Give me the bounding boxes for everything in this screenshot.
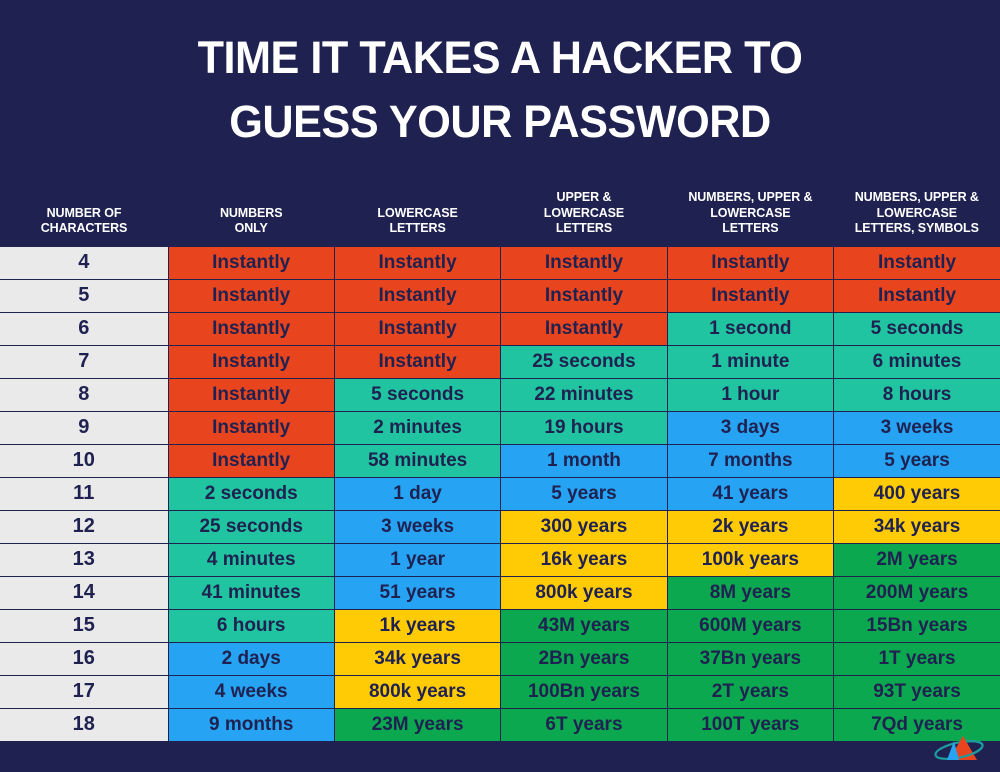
crack-time-cell: 8 hours [834, 378, 1000, 411]
crack-time-cell: 2 days [168, 642, 334, 675]
crack-time-cell: 100k years [667, 543, 833, 576]
column-header-line: LETTERS [505, 221, 663, 237]
crack-time-cell: Instantly [168, 444, 334, 477]
crack-time-cell: 4 weeks [168, 675, 334, 708]
crack-time-cell: 5 years [501, 477, 667, 510]
title-line-1: TIME IT TAKES A HACKER TO [20, 26, 980, 90]
crack-time-cell: 1 year [334, 543, 500, 576]
crack-time-cell: 5 seconds [834, 312, 1000, 345]
crack-time-cell: 2M years [834, 543, 1000, 576]
crack-time-cell: 43M years [501, 609, 667, 642]
crack-time-cell: 25 seconds [168, 510, 334, 543]
column-header-line: LOWERCASE [838, 206, 996, 222]
crack-time-cell: 1 month [501, 444, 667, 477]
crack-time-cell: 58 minutes [334, 444, 500, 477]
crack-time-cell: 1 second [667, 312, 833, 345]
char-count-cell: 11 [0, 477, 168, 510]
crack-time-cell: 7 months [667, 444, 833, 477]
crack-time-cell: 1k years [334, 609, 500, 642]
crack-time-cell: Instantly [334, 246, 500, 279]
column-header-chars: NUMBER OFCHARACTERS [0, 168, 168, 246]
crack-time-cell: Instantly [168, 279, 334, 312]
table-row: 189 months23M years6T years100T years7Qd… [0, 708, 1000, 741]
crack-time-cell: 19 hours [501, 411, 667, 444]
crack-time-cell: 41 minutes [168, 576, 334, 609]
table-row: 10Instantly58 minutes1 month7 months5 ye… [0, 444, 1000, 477]
crack-time-cell: Instantly [168, 345, 334, 378]
table-row: 1441 minutes51 years800k years8M years20… [0, 576, 1000, 609]
crack-time-cell: 34k years [834, 510, 1000, 543]
crack-time-cell: Instantly [168, 378, 334, 411]
char-count-cell: 8 [0, 378, 168, 411]
table-row: 1225 seconds3 weeks300 years2k years34k … [0, 510, 1000, 543]
column-header-line: NUMBERS, UPPER & [671, 190, 829, 206]
crack-time-cell: 8M years [667, 576, 833, 609]
crack-time-cell: 2T years [667, 675, 833, 708]
column-header-line: LETTERS [671, 221, 829, 237]
char-count-cell: 4 [0, 246, 168, 279]
column-header-numupperlowersym: NUMBERS, UPPER &LOWERCASELETTERS, SYMBOL… [834, 168, 1000, 246]
crack-time-cell: 1 hour [667, 378, 833, 411]
crack-time-cell: 800k years [501, 576, 667, 609]
column-header-line: UPPER & [505, 190, 663, 206]
column-header-lowercase: LOWERCASELETTERS [334, 168, 500, 246]
crack-time-cell: 100Bn years [501, 675, 667, 708]
crack-time-cell: 4 minutes [168, 543, 334, 576]
title-line-2: GUESS YOUR PASSWORD [20, 90, 980, 154]
infographic-root: TIME IT TAKES A HACKER TO GUESS YOUR PAS… [0, 0, 1000, 772]
crack-time-cell: 6 minutes [834, 345, 1000, 378]
crack-time-cell: 1 minute [667, 345, 833, 378]
column-header-line: LOWERCASE [338, 206, 496, 222]
crack-time-cell: 3 weeks [334, 510, 500, 543]
table-body: 4InstantlyInstantlyInstantlyInstantlyIns… [0, 246, 1000, 741]
crack-time-cell: Instantly [168, 411, 334, 444]
crack-time-cell: 800k years [334, 675, 500, 708]
crack-time-cell: Instantly [834, 246, 1000, 279]
crack-time-cell: Instantly [501, 246, 667, 279]
char-count-cell: 17 [0, 675, 168, 708]
char-count-cell: 18 [0, 708, 168, 741]
crack-time-cell: 16k years [501, 543, 667, 576]
char-count-cell: 7 [0, 345, 168, 378]
crack-time-cell: 1T years [834, 642, 1000, 675]
crack-time-cell: Instantly [834, 279, 1000, 312]
column-header-line: LETTERS, SYMBOLS [838, 221, 996, 237]
crack-time-cell: 6T years [501, 708, 667, 741]
crack-time-cell: 2 minutes [334, 411, 500, 444]
table-row: 112 seconds1 day5 years41 years400 years [0, 477, 1000, 510]
crack-time-cell: Instantly [667, 279, 833, 312]
crack-time-cell: 93T years [834, 675, 1000, 708]
page-title: TIME IT TAKES A HACKER TO GUESS YOUR PAS… [0, 0, 1000, 154]
crack-time-cell: 5 seconds [334, 378, 500, 411]
column-header-line: NUMBER OF [4, 206, 164, 222]
crack-time-cell: 9 months [168, 708, 334, 741]
crack-time-cell: Instantly [501, 279, 667, 312]
char-count-cell: 10 [0, 444, 168, 477]
crack-time-cell: 2Bn years [501, 642, 667, 675]
password-strength-table: NUMBER OFCHARACTERSNUMBERSONLYLOWERCASEL… [0, 168, 1000, 742]
column-header-numupperlower: NUMBERS, UPPER &LOWERCASELETTERS [667, 168, 833, 246]
column-header-line: CHARACTERS [4, 221, 164, 237]
crack-time-cell: Instantly [334, 345, 500, 378]
char-count-cell: 5 [0, 279, 168, 312]
table-row: 9Instantly2 minutes19 hours3 days3 weeks [0, 411, 1000, 444]
char-count-cell: 16 [0, 642, 168, 675]
char-count-cell: 14 [0, 576, 168, 609]
crack-time-cell: 41 years [667, 477, 833, 510]
crack-time-cell: 200M years [834, 576, 1000, 609]
column-header-line: ONLY [172, 221, 330, 237]
column-header-line: NUMBERS [172, 206, 330, 222]
table-row: 7InstantlyInstantly25 seconds1 minute6 m… [0, 345, 1000, 378]
crack-time-cell: 2 seconds [168, 477, 334, 510]
table-header: NUMBER OFCHARACTERSNUMBERSONLYLOWERCASEL… [0, 168, 1000, 246]
crack-time-cell: 23M years [334, 708, 500, 741]
table-row: 134 minutes1 year16k years100k years2M y… [0, 543, 1000, 576]
char-count-cell: 6 [0, 312, 168, 345]
crack-time-cell: Instantly [501, 312, 667, 345]
crack-time-cell: 600M years [667, 609, 833, 642]
crack-time-cell: 5 years [834, 444, 1000, 477]
crack-time-cell: 3 days [667, 411, 833, 444]
password-strength-table-wrapper: NUMBER OFCHARACTERSNUMBERSONLYLOWERCASEL… [0, 168, 1000, 742]
crack-time-cell: 6 hours [168, 609, 334, 642]
crack-time-cell: Instantly [667, 246, 833, 279]
crack-time-cell: 3 weeks [834, 411, 1000, 444]
crack-time-cell: 22 minutes [501, 378, 667, 411]
crack-time-cell: 2k years [667, 510, 833, 543]
table-row: 4InstantlyInstantlyInstantlyInstantlyIns… [0, 246, 1000, 279]
crack-time-cell: Instantly [334, 279, 500, 312]
column-header-line: LOWERCASE [671, 206, 829, 222]
crack-time-cell: Instantly [168, 312, 334, 345]
crack-time-cell: 300 years [501, 510, 667, 543]
column-header-line: LOWERCASE [505, 206, 663, 222]
crack-time-cell: 37Bn years [667, 642, 833, 675]
table-row: 174 weeks800k years100Bn years2T years93… [0, 675, 1000, 708]
column-header-upperlower: UPPER &LOWERCASELETTERS [501, 168, 667, 246]
header-row: NUMBER OFCHARACTERSNUMBERSONLYLOWERCASEL… [0, 168, 1000, 246]
column-header-line: LETTERS [338, 221, 496, 237]
table-row: 156 hours1k years43M years600M years15Bn… [0, 609, 1000, 642]
table-row: 5InstantlyInstantlyInstantlyInstantlyIns… [0, 279, 1000, 312]
crack-time-cell: Instantly [334, 312, 500, 345]
crack-time-cell: Instantly [168, 246, 334, 279]
crack-time-cell: 51 years [334, 576, 500, 609]
char-count-cell: 12 [0, 510, 168, 543]
crack-time-cell: 34k years [334, 642, 500, 675]
crack-time-cell: 25 seconds [501, 345, 667, 378]
char-count-cell: 13 [0, 543, 168, 576]
column-header-line: NUMBERS, UPPER & [838, 190, 996, 206]
table-row: 8Instantly5 seconds22 minutes1 hour8 hou… [0, 378, 1000, 411]
crack-time-cell: 100T years [667, 708, 833, 741]
table-row: 162 days34k years2Bn years37Bn years1T y… [0, 642, 1000, 675]
column-header-numbers: NUMBERSONLY [168, 168, 334, 246]
brand-logo[interactable] [932, 732, 986, 766]
crack-time-cell: 400 years [834, 477, 1000, 510]
crack-time-cell: 1 day [334, 477, 500, 510]
table-row: 6InstantlyInstantlyInstantly1 second5 se… [0, 312, 1000, 345]
char-count-cell: 9 [0, 411, 168, 444]
char-count-cell: 15 [0, 609, 168, 642]
crack-time-cell: 15Bn years [834, 609, 1000, 642]
